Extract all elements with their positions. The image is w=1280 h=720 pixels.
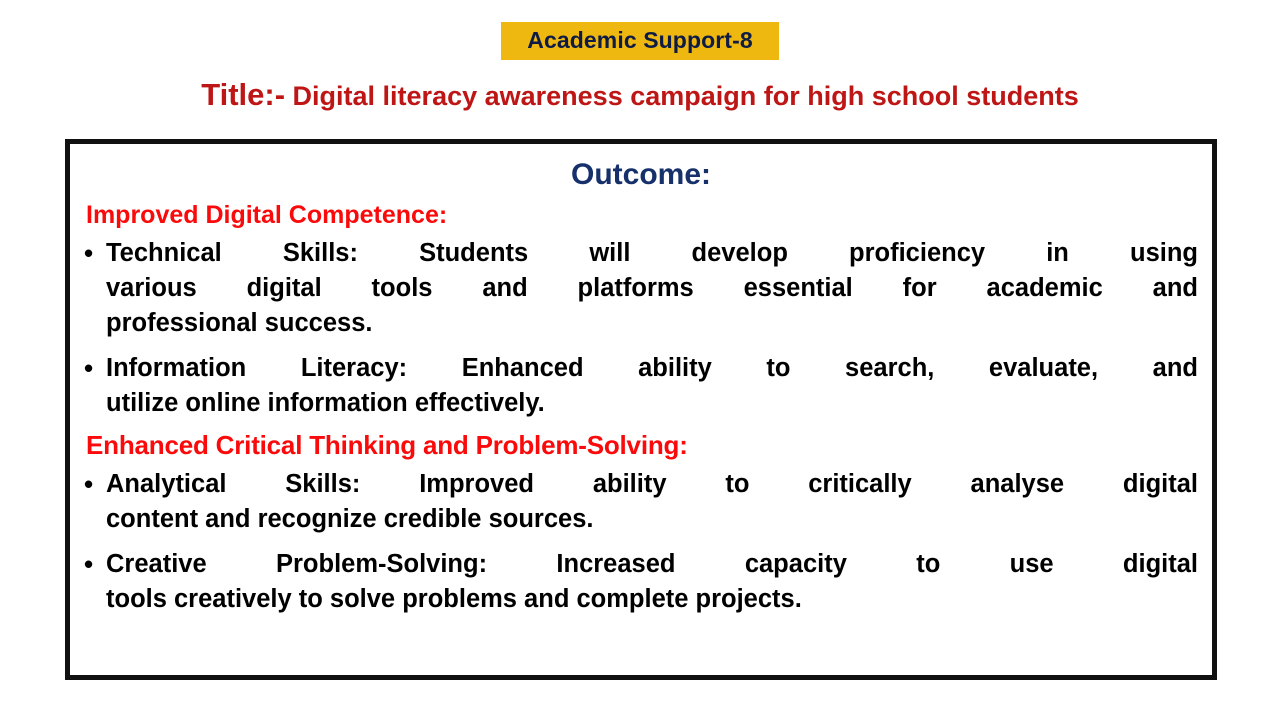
list-item: • Information Literacy: Enhanced ability…	[84, 351, 1198, 421]
title-label: Title:-	[201, 77, 285, 112]
list-item-line: Analytical Skills: Improved ability to c…	[106, 467, 1198, 502]
subheading-enhanced-critical-thinking: Enhanced Critical Thinking and Problem-S…	[84, 431, 1198, 461]
outcome-box: Outcome: Improved Digital Competence: • …	[65, 139, 1217, 680]
list-item-text: Analytical Skills: Improved ability to c…	[106, 467, 1198, 537]
list-item-line: tools creatively to solve problems and c…	[106, 582, 1198, 617]
title-text: Digital literacy awareness campaign for …	[293, 81, 1079, 111]
list-item-line: professional success.	[106, 306, 1198, 341]
list-item-line: Technical Skills: Students will develop …	[106, 236, 1198, 271]
list-item: • Creative Problem-Solving: Increased ca…	[84, 547, 1198, 617]
bullet-icon: •	[84, 467, 106, 502]
slide-title: Title:- Digital literacy awareness campa…	[0, 77, 1280, 113]
bullet-icon: •	[84, 547, 106, 582]
list-item: • Analytical Skills: Improved ability to…	[84, 467, 1198, 537]
list-item-line: various digital tools and platforms esse…	[106, 271, 1198, 306]
list-item-line: Information Literacy: Enhanced ability t…	[106, 351, 1198, 386]
slide: Academic Support-8 Title:- Digital liter…	[0, 0, 1280, 720]
academic-support-banner: Academic Support-8	[501, 22, 778, 60]
list-item-line: Creative Problem-Solving: Increased capa…	[106, 547, 1198, 582]
list-item-line: content and recognize credible sources.	[106, 502, 1198, 537]
list-item-line: utilize online information effectively.	[106, 386, 1198, 421]
bullet-icon: •	[84, 351, 106, 386]
list-item-text: Creative Problem-Solving: Increased capa…	[106, 547, 1198, 617]
list-item-text: Information Literacy: Enhanced ability t…	[106, 351, 1198, 421]
subheading-improved-digital-competence: Improved Digital Competence:	[84, 201, 1198, 230]
bullet-icon: •	[84, 236, 106, 271]
banner-row: Academic Support-8	[0, 22, 1280, 60]
list-item-text: Technical Skills: Students will develop …	[106, 236, 1198, 341]
list-item: • Technical Skills: Students will develo…	[84, 236, 1198, 341]
outcome-heading: Outcome:	[84, 158, 1198, 191]
